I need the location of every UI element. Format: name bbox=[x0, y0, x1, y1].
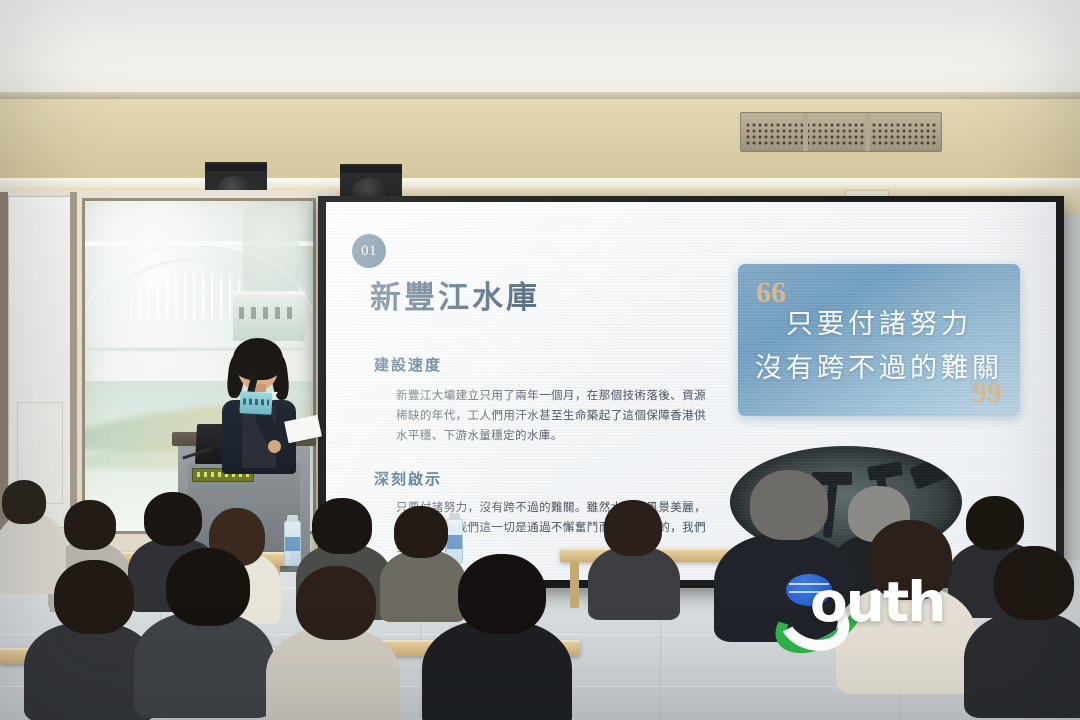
door-frame-left bbox=[0, 192, 8, 530]
water-bottle-1 bbox=[284, 520, 301, 566]
slide-number-badge: 01 bbox=[352, 234, 386, 268]
quote-line-1: 只要付諸努力 bbox=[738, 302, 1020, 341]
screenshot-root: 01 新豐江水庫 建設速度 新豐江大壩建立只用了兩年一個月，在那個技術落後、資源… bbox=[0, 0, 1080, 720]
section-body-1: 新豐江大壩建立只用了兩年一個月，在那個技術落後、資源稀缺的年代，工人們用汗水甚至… bbox=[396, 386, 706, 446]
quote-card: 66 只要付諸努力 沒有跨不過的難關 99 bbox=[738, 264, 1020, 416]
microphone-flag bbox=[239, 391, 272, 415]
section-heading-2: 深刻啟示 bbox=[374, 468, 442, 489]
section-heading-1: 建設速度 bbox=[374, 354, 442, 375]
slide-title: 新豐江水庫 bbox=[370, 272, 540, 317]
south-watermark-logo: outh bbox=[758, 572, 958, 628]
door-frame-right bbox=[70, 192, 77, 530]
ceiling-air-vent-icon bbox=[740, 112, 942, 152]
side-door[interactable] bbox=[8, 196, 72, 528]
mural-monument-icon bbox=[243, 207, 299, 293]
ceiling bbox=[0, 0, 1080, 98]
logo-wordmark: outh bbox=[810, 570, 944, 634]
quote-close-mark: 99 bbox=[972, 378, 1002, 408]
